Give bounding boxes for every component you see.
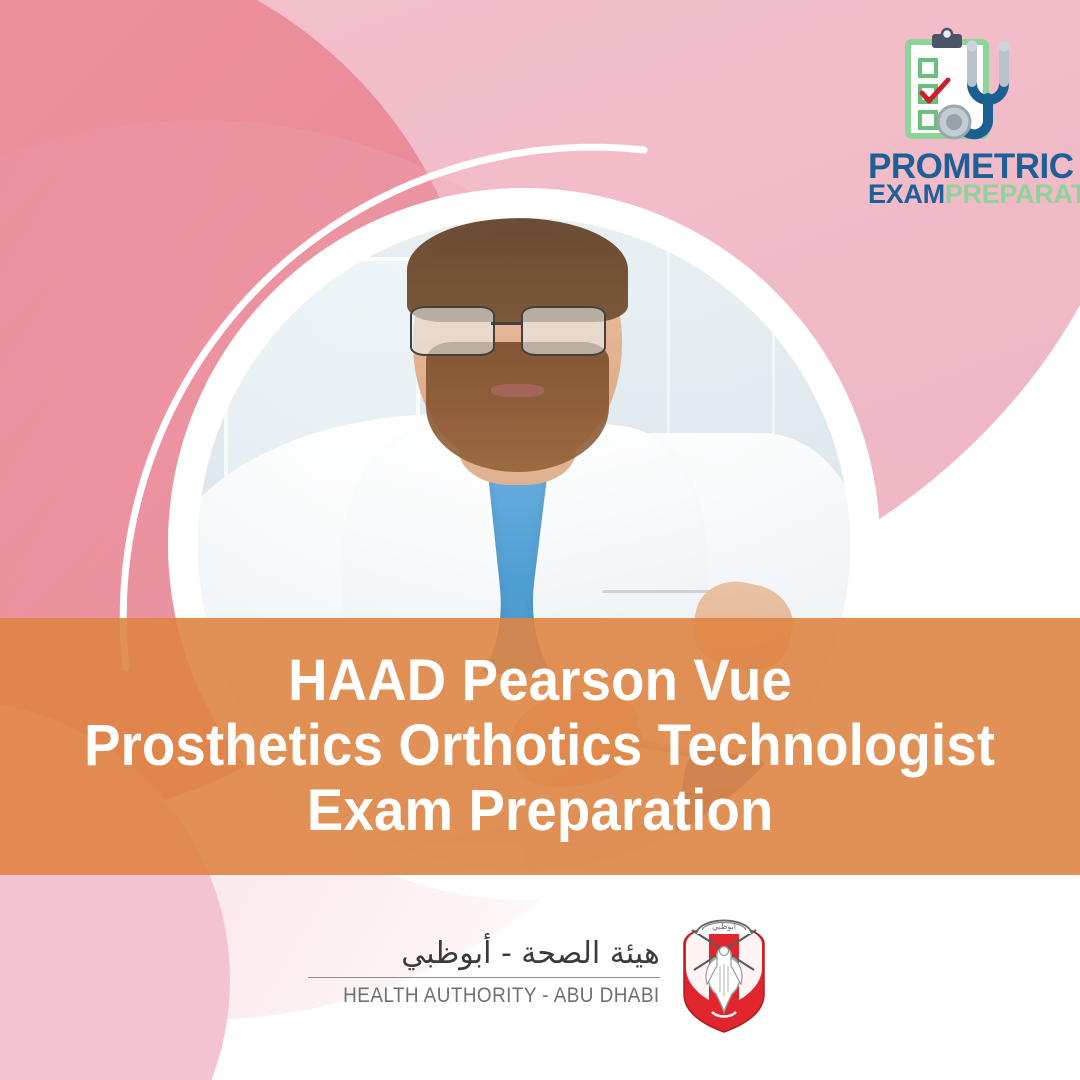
haad-arabic-text: هيئة الصحة - أبوظبي: [308, 936, 660, 972]
haad-logo: هيئة الصحة - أبوظبي HEALTH AUTHORITY - A…: [0, 908, 1080, 1036]
logo-word-prometric: PROMETRIC: [868, 152, 1064, 183]
poster-canvas: HAAD Pearson Vue Prosthetics Orthotics T…: [0, 0, 1080, 1080]
title-line-3: Exam Preparation: [307, 779, 774, 844]
title-line-2: Prosthetics Orthotics Technologist: [84, 714, 995, 779]
prometric-exam-preparation-logo[interactable]: PROMETRIC EXAMPREPARATION: [868, 26, 1064, 207]
title-line-1: HAAD Pearson Vue: [288, 649, 792, 714]
haad-english-text: HEALTH AUTHORITY - ABU DHABI: [343, 984, 659, 1008]
haad-divider-rule: [308, 977, 660, 979]
clipboard-stethoscope-icon: [868, 26, 1064, 150]
abu-dhabi-falcon-emblem: أبوظبي: [676, 908, 772, 1036]
svg-text:أبوظبي: أبوظبي: [712, 921, 736, 931]
title-banner: HAAD Pearson Vue Prosthetics Orthotics T…: [0, 618, 1080, 875]
